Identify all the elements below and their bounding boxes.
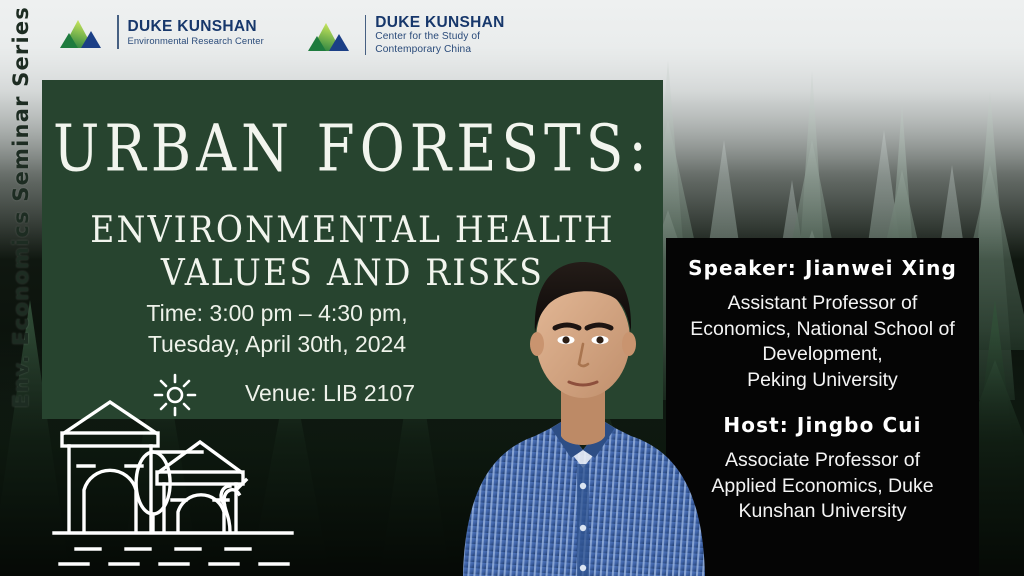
speaker-headshot <box>455 236 710 576</box>
speaker-affiliation-line-3: Development, <box>678 342 967 368</box>
logo-subtitle-line-2: Contemporary China <box>375 44 504 56</box>
speaker-info-panel: Speaker: Jianwei Xing Assistant Professo… <box>666 238 979 576</box>
logo-duke-kunshan-cscc: DUKE KUNSHAN Center for the Study of Con… <box>308 14 505 56</box>
logo-row: DUKE KUNSHAN Environmental Research Cent… <box>60 14 505 56</box>
logo-subtitle-line-1: Environmental Research Center <box>128 35 264 46</box>
logo-text-block: DUKE KUNSHAN Environmental Research Cent… <box>128 18 264 47</box>
logo-subtitle-line-1: Center for the Study of <box>375 31 504 43</box>
duke-kunshan-mountain-icon <box>308 17 356 53</box>
seminar-series-text: Env. Economics Seminar Series <box>9 6 33 416</box>
logo-divider <box>365 15 367 55</box>
speaker-affiliation-line-1: Assistant Professor of <box>678 291 967 317</box>
logo-duke-kunshan-erc: DUKE KUNSHAN Environmental Research Cent… <box>60 14 264 50</box>
logo-text-block: DUKE KUNSHAN Center for the Study of Con… <box>375 14 504 56</box>
speaker-affiliation-line-2: Economics, National School of <box>678 317 967 343</box>
host-heading: Host: Jingbo Cui <box>678 413 967 437</box>
speaker-heading: Speaker: Jianwei Xing <box>678 256 967 280</box>
logo-title: DUKE KUNSHAN <box>128 18 264 35</box>
sun-icon <box>152 372 198 418</box>
host-affiliation-line-1: Associate Professor of <box>678 448 967 474</box>
host-affiliation: Associate Professor of Applied Economics… <box>678 448 967 525</box>
host-block: Host: Jingbo Cui Associate Professor of … <box>678 413 967 525</box>
host-affiliation-line-3: Kunshan University <box>678 499 967 525</box>
host-affiliation-line-2: Applied Economics, Duke <box>678 474 967 500</box>
speaker-block: Speaker: Jianwei Xing Assistant Professo… <box>678 256 967 394</box>
speaker-affiliation: Assistant Professor of Economics, Nation… <box>678 291 967 394</box>
logo-divider <box>117 15 119 49</box>
duke-kunshan-mountain-icon <box>60 14 108 50</box>
logo-title: DUKE KUNSHAN <box>375 14 504 31</box>
seminar-series-label: Env. Economics Seminar Series <box>0 0 43 576</box>
speaker-affiliation-line-4: Peking University <box>678 368 967 394</box>
event-poster: Env. Economics Seminar Series DUKE KUNSH… <box>0 0 1024 576</box>
